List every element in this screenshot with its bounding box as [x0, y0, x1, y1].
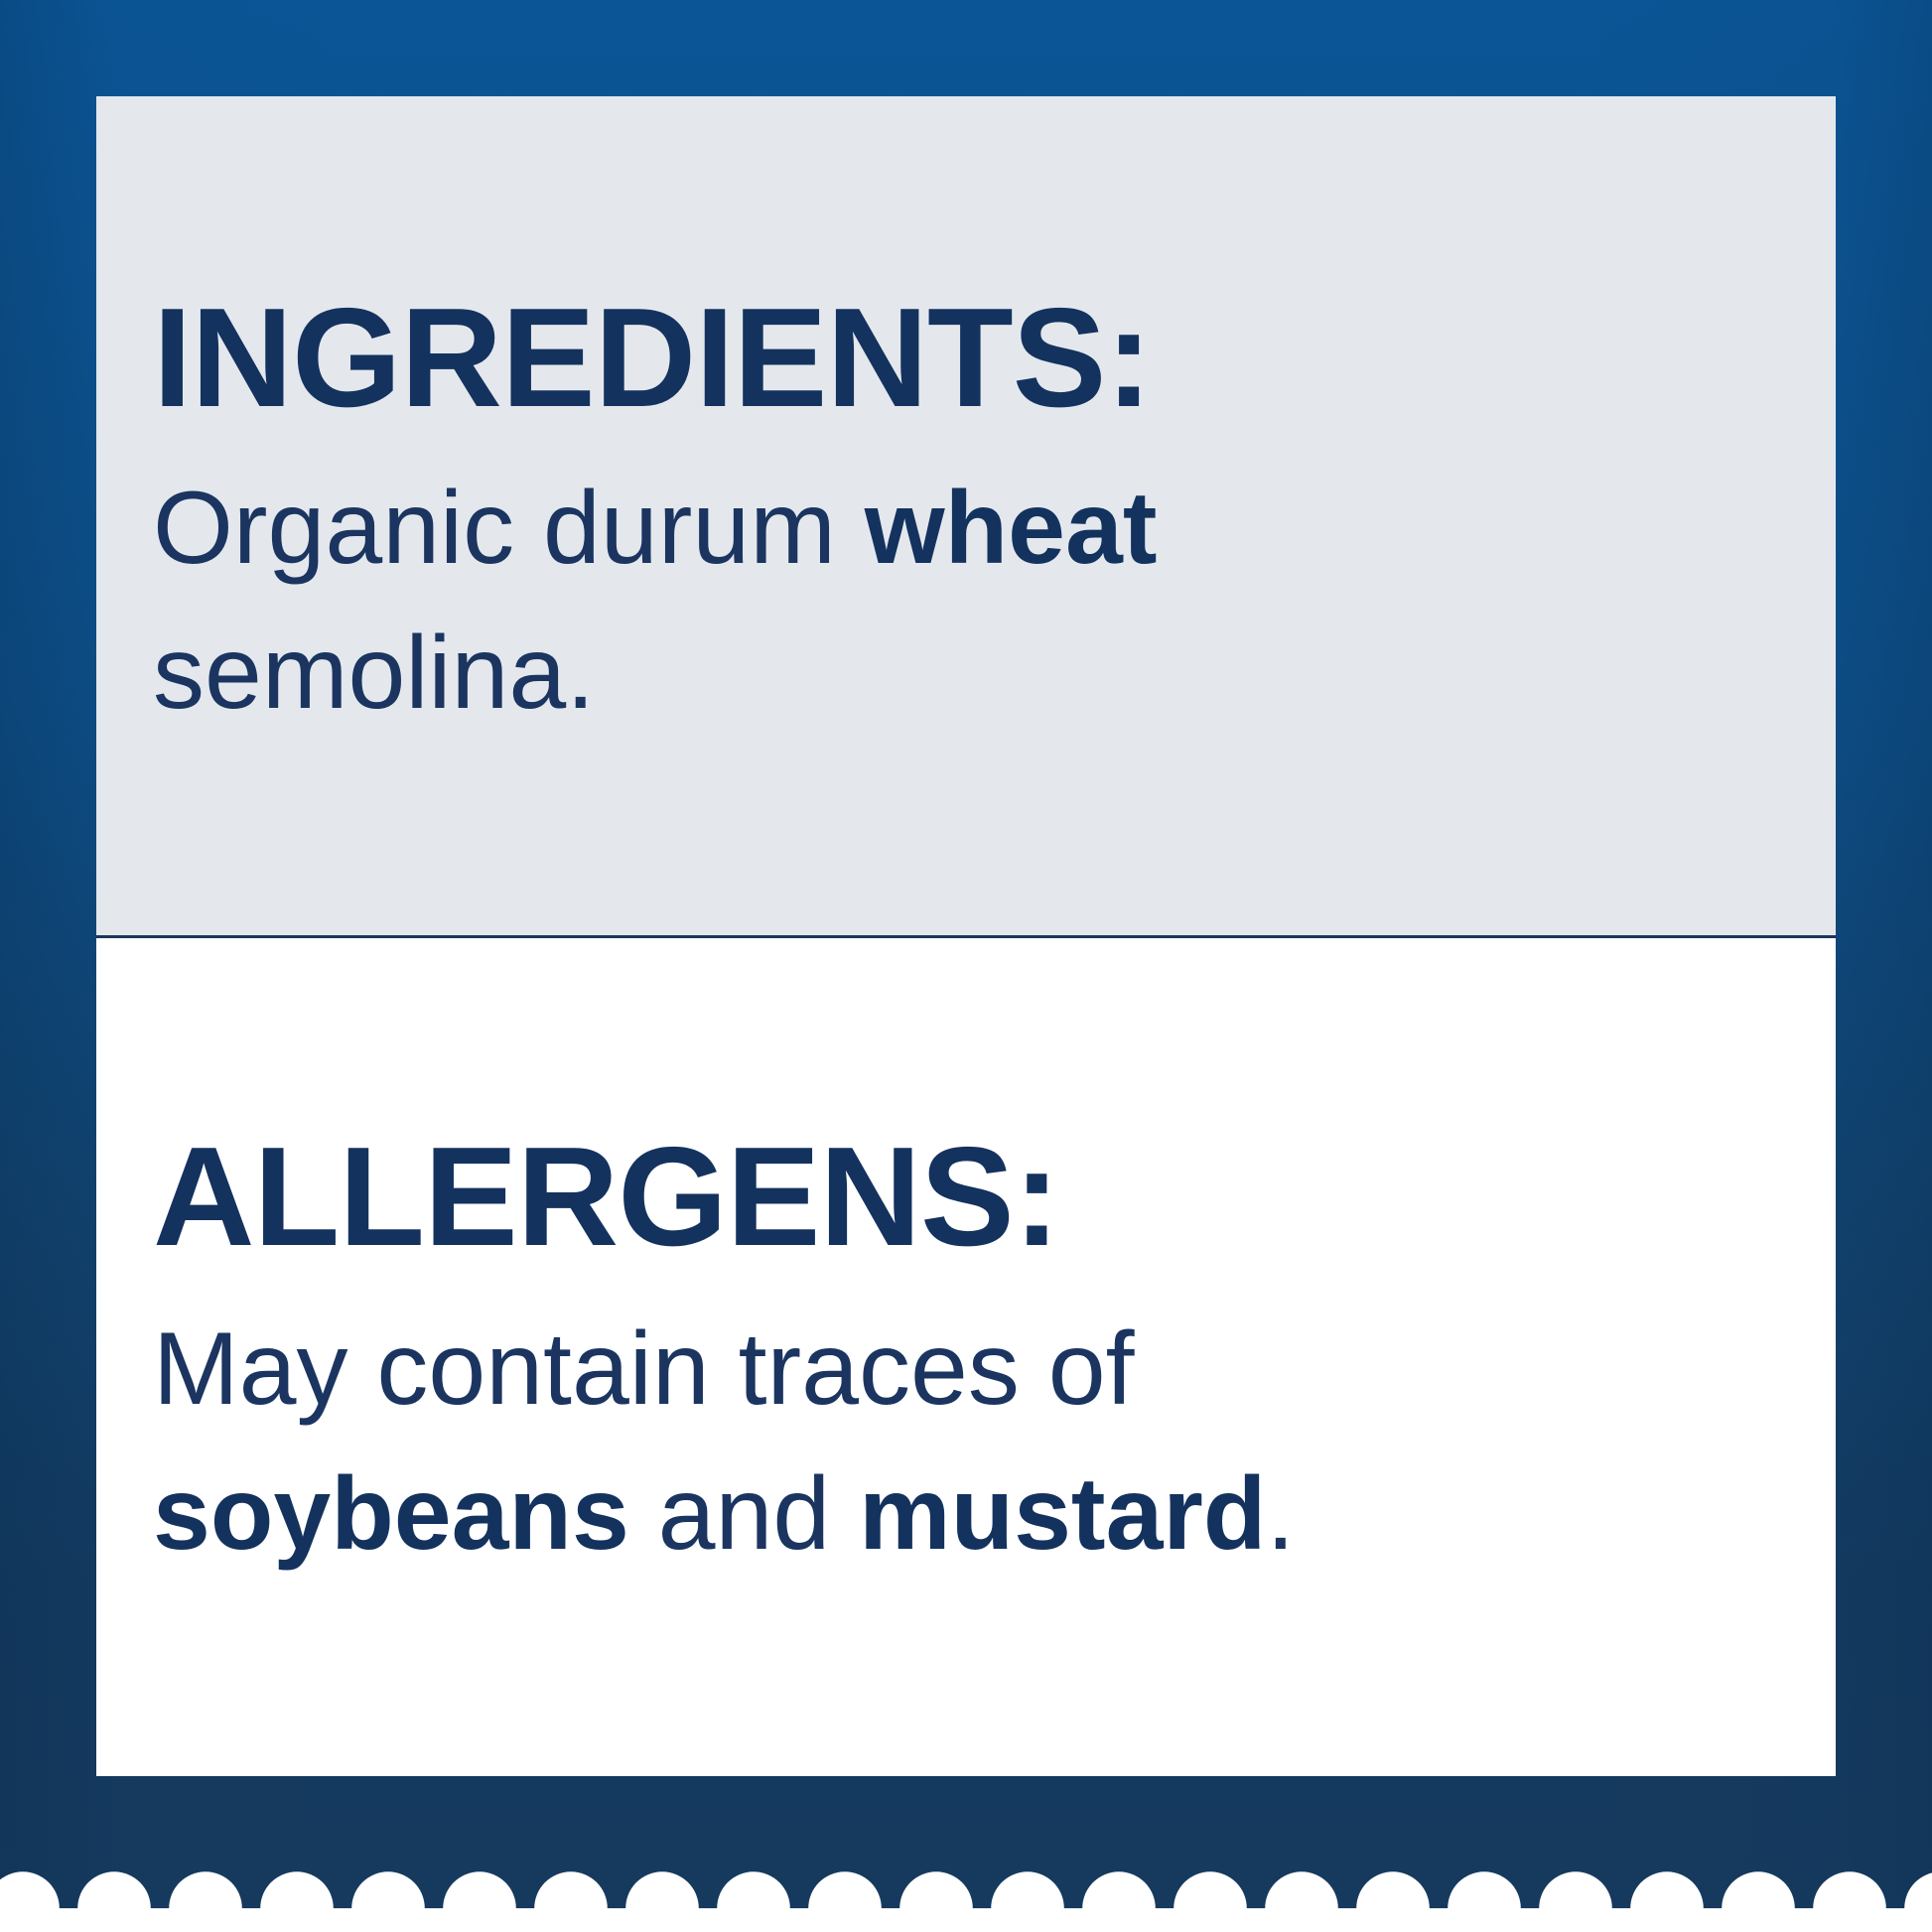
ingredients-heading: INGREDIENTS: [153, 288, 1779, 429]
allergens-body: May contain traces of soybeans and musta… [153, 1298, 1453, 1587]
ingredients-body: Organic durum wheat semolina. [153, 457, 1324, 746]
ingredients-body-line-1: Organic durum wheat [153, 457, 1324, 602]
allergens-body-line-1: May contain traces of [153, 1298, 1453, 1443]
allergens-allergen-soybeans: soybeans [153, 1456, 629, 1572]
scalloped-bottom-edge [0, 1870, 1932, 1932]
ingredients-body-line-2: semolina. [153, 602, 1324, 747]
ingredients-text-light-1: Organic durum [153, 471, 865, 586]
nutrition-label-card: INGREDIENTS: Organic durum wheat semolin… [0, 0, 1932, 1932]
allergens-heading: ALLERGENS: [153, 1127, 1779, 1268]
allergens-allergen-mustard: mustard [859, 1456, 1266, 1572]
allergens-text-period: . [1266, 1456, 1295, 1572]
ingredients-text-light-2: semolina. [153, 616, 595, 731]
allergens-text-light-2: and [629, 1456, 859, 1572]
ingredients-allergen-wheat: wheat [865, 471, 1158, 586]
allergens-panel: ALLERGENS: May contain traces of soybean… [96, 938, 1836, 1776]
ingredients-panel: INGREDIENTS: Organic durum wheat semolin… [96, 96, 1836, 938]
allergens-text-light-1: May contain traces of [153, 1311, 1134, 1427]
allergens-body-line-2: soybeans and mustard. [153, 1443, 1453, 1587]
panel-stack: INGREDIENTS: Organic durum wheat semolin… [96, 96, 1836, 1776]
